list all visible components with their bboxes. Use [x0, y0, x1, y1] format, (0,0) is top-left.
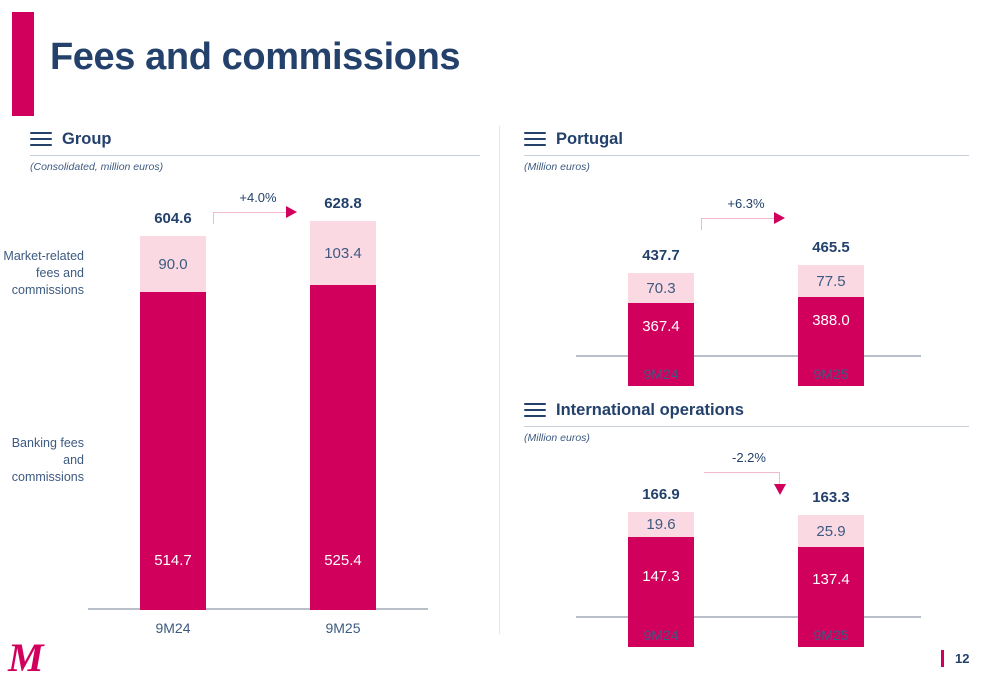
delta-group: +4.0%: [213, 190, 303, 224]
arrow-up-trend-icon: [774, 212, 785, 224]
section-international-header: International operations: [524, 399, 969, 421]
section-portugal-rule: [524, 155, 969, 156]
page-number-accent-bar: [941, 650, 944, 667]
section-portugal-header: Portugal: [524, 128, 969, 150]
section-international-title: International operations: [556, 401, 744, 420]
category-label-international-9M25: 9M25: [798, 627, 864, 643]
bar-segment-value: 77.5: [816, 274, 845, 289]
series-label-banking: Banking fees and commissions: [0, 435, 84, 486]
delta-label-portugal: +6.3%: [701, 196, 791, 211]
bar-total-international-9M24: 166.9: [628, 486, 694, 503]
category-label-group-9M24: 9M24: [140, 620, 206, 636]
bar-segment-value: 25.9: [816, 524, 845, 539]
brand-logo: M: [8, 638, 54, 678]
delta-line-horizontal: [213, 212, 289, 213]
bar-segment-value: 103.4: [324, 246, 362, 261]
bar-segment-value: 525.4: [324, 553, 362, 568]
section-portugal: Portugal (Million euros): [524, 128, 969, 173]
bar-segment-value: 388.0: [812, 313, 850, 328]
page-number: 12: [955, 651, 969, 666]
bar-segment-value: 19.6: [646, 517, 675, 532]
section-portugal-title: Portugal: [556, 130, 623, 149]
section-international-subtitle: (Million euros): [524, 432, 969, 444]
section-group-header: Group: [30, 128, 480, 150]
bar-segment-market-related-portugal-9M25[interactable]: 77.5: [798, 265, 864, 297]
delta-line-vertical: [701, 218, 702, 230]
chart-international: 166.9 19.6 147.3 9M24 163.3 25.9 137.4 9…: [576, 452, 921, 647]
delta-line-horizontal: [704, 472, 780, 473]
bar-segment-market-related-international-9M25[interactable]: 25.9: [798, 515, 864, 547]
hamburger-icon: [524, 403, 546, 417]
delta-line-vertical: [213, 212, 214, 224]
delta-label-group: +4.0%: [213, 190, 303, 205]
section-group: Group (Consolidated, million euros): [30, 128, 480, 173]
bar-total-international-9M25: 163.3: [798, 489, 864, 506]
bar-segment-market-related-international-9M24[interactable]: 19.6: [628, 512, 694, 537]
bar-group-9M24[interactable]: 604.6 90.0 514.7: [140, 236, 206, 610]
series-label-market-related: Market-related fees and commissions: [0, 248, 84, 299]
bar-segment-market-related-group-9M25[interactable]: 103.4: [310, 221, 376, 285]
section-portugal-subtitle: (Million euros): [524, 161, 969, 173]
hamburger-icon: [524, 132, 546, 146]
page-title: Fees and commissions: [50, 36, 460, 79]
column-divider: [499, 126, 500, 634]
bar-segment-banking-group-9M25[interactable]: 525.4: [310, 285, 376, 610]
bar-total-portugal-9M25: 465.5: [798, 239, 864, 256]
bar-segment-value: 90.0: [158, 257, 187, 272]
hamburger-icon: [30, 132, 52, 146]
section-group-subtitle: (Consolidated, million euros): [30, 161, 480, 173]
arrow-up-trend-icon: [286, 206, 297, 218]
section-international: International operations (Million euros): [524, 399, 969, 444]
category-label-international-9M24: 9M24: [628, 627, 694, 643]
delta-international: -2.2%: [704, 450, 794, 490]
chart-group: Market-related fees and commissions Bank…: [88, 190, 428, 610]
category-label-group-9M25: 9M25: [310, 620, 376, 636]
bar-segment-value: 367.4: [642, 319, 680, 334]
chart-group-baseline: [88, 608, 428, 610]
bar-segment-value: 70.3: [646, 281, 675, 296]
bar-total-group-9M25: 628.8: [310, 195, 376, 212]
bar-segment-value: 147.3: [642, 569, 680, 584]
section-international-rule: [524, 426, 969, 427]
category-label-portugal-9M24: 9M24: [628, 366, 694, 382]
delta-label-international: -2.2%: [704, 450, 794, 465]
arrow-down-trend-icon: [774, 484, 786, 495]
bar-segment-market-related-portugal-9M24[interactable]: 70.3: [628, 273, 694, 303]
bar-segment-banking-group-9M24[interactable]: 514.7: [140, 292, 206, 610]
bar-group-9M25[interactable]: 628.8 103.4 525.4: [310, 221, 376, 610]
bar-segment-market-related-group-9M24[interactable]: 90.0: [140, 236, 206, 292]
delta-portugal: +6.3%: [701, 196, 791, 230]
bar-segment-value: 137.4: [812, 572, 850, 587]
bar-total-group-9M24: 604.6: [140, 210, 206, 227]
section-group-title: Group: [62, 130, 112, 149]
delta-line-horizontal: [701, 218, 777, 219]
bar-segment-value: 514.7: [154, 553, 192, 568]
title-accent-bar: [12, 12, 34, 116]
section-group-rule: [30, 155, 480, 156]
bar-total-portugal-9M24: 437.7: [628, 247, 694, 264]
category-label-portugal-9M25: 9M25: [798, 366, 864, 382]
chart-portugal: 437.7 70.3 367.4 9M24 465.5 77.5 388.0 9…: [576, 196, 921, 386]
